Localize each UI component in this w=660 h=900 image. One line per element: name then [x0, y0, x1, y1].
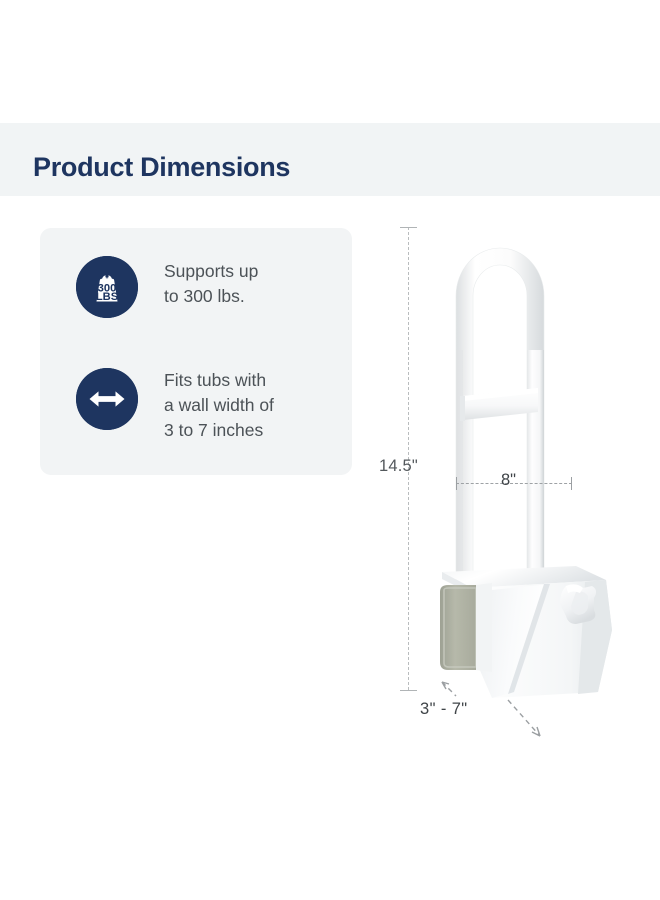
svg-text:LBS: LBS — [96, 291, 119, 303]
width-dimension-cap-right — [571, 477, 572, 490]
width-dimension-cap-left — [456, 477, 457, 490]
product-illustration-area: 14.5" 8" 3" - 7" — [380, 200, 650, 760]
width-dimension-label: 8" — [497, 471, 520, 490]
features-card: 300 LBS Supports up to 300 lbs. Fits tub… — [40, 228, 352, 475]
infographic-canvas: Product Dimensions 300 LBS Supports up t… — [0, 0, 660, 900]
height-dimension-cap-bottom — [400, 690, 417, 691]
feature-label-wall-width: Fits tubs with a wall width of 3 to 7 in… — [164, 368, 274, 443]
page-title: Product Dimensions — [33, 152, 290, 183]
feature-label-weight-capacity: Supports up to 300 lbs. — [164, 256, 258, 309]
feature-item-weight-capacity: 300 LBS Supports up to 300 lbs. — [76, 256, 258, 318]
double-arrow-horizontal-icon — [76, 368, 138, 430]
feature-item-wall-width: Fits tubs with a wall width of 3 to 7 in… — [76, 368, 274, 443]
weight-300lbs-icon: 300 LBS — [76, 256, 138, 318]
height-dimension-label: 14.5" — [379, 457, 418, 476]
height-dimension-cap-top — [400, 227, 417, 228]
clamp-range-label: 3" - 7" — [420, 700, 468, 719]
